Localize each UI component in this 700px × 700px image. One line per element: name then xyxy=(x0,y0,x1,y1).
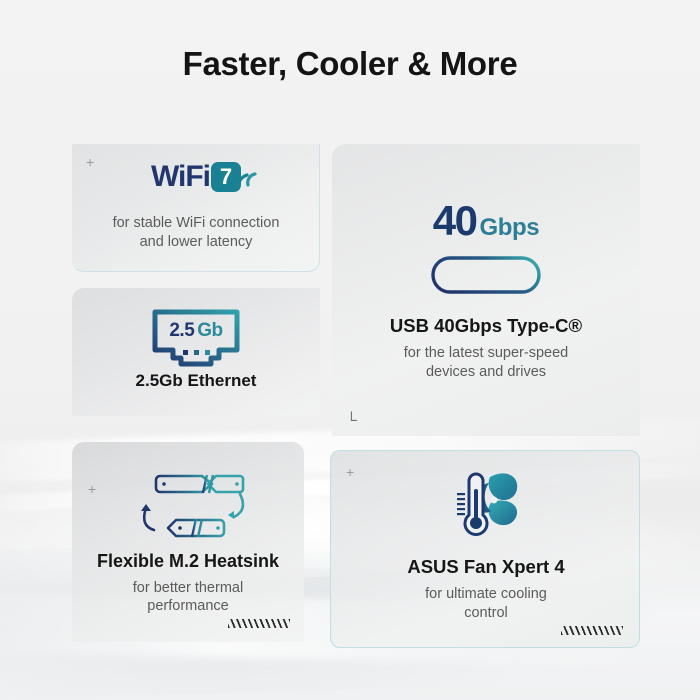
usb-speed-value: 40 xyxy=(433,200,477,242)
feature-card-fanxpert[interactable]: + xyxy=(330,450,640,648)
m2-heatsink-swap-icon xyxy=(72,470,304,551)
wifi-signal-arcs-icon xyxy=(236,172,262,196)
usb-c-port-icon xyxy=(332,254,640,301)
ethernet-port-icon: 2.5Gb xyxy=(72,306,320,373)
corner-bracket-marker-icon: └ xyxy=(346,413,357,428)
page-title: Faster, Cooler & More xyxy=(0,45,700,83)
card-subtitle-line-2: control xyxy=(331,604,640,623)
hatch-decoration xyxy=(561,626,623,635)
usb-speed-unit: Gbps xyxy=(479,216,539,240)
card-title-usb: USB 40Gbps Type-C® xyxy=(332,314,640,337)
card-subtitle-line-1: for better thermal xyxy=(72,579,304,598)
card-subtitle-line-1: for stable WiFi connection xyxy=(72,214,320,233)
card-subtitle-line-2: and lower latency xyxy=(72,233,320,252)
feature-card-wifi7[interactable]: + WiFi 7 for stable WiFi connection and … xyxy=(72,144,320,272)
card-title-heatsink: Flexible M.2 Heatsink xyxy=(72,550,304,573)
wifi-logo-word: WiFi xyxy=(151,162,210,192)
card-title-ethernet: 2.5Gb Ethernet xyxy=(72,370,320,391)
card-subtitle-line-1: for ultimate cooling xyxy=(331,585,640,604)
wifi-7-badge-number: 7 xyxy=(220,166,232,188)
feature-card-ethernet[interactable]: 2.5Gb 2.5Gb Ethernet xyxy=(72,288,320,416)
ethernet-speed-value: 2.5 xyxy=(169,320,194,341)
usb-speed-label: 40 Gbps xyxy=(332,200,640,242)
wifi-7-logo: WiFi 7 xyxy=(72,162,320,192)
feature-card-heatsink[interactable]: + xyxy=(72,442,304,642)
card-subtitle-line-1: for the latest super-speed xyxy=(332,344,640,363)
hatch-decoration xyxy=(228,619,290,628)
feature-highlight-page: Faster, Cooler & More + WiFi 7 for stabl… xyxy=(0,0,700,700)
card-subtitle-line-2: devices and drives xyxy=(332,363,640,382)
card-title-fanxpert: ASUS Fan Xpert 4 xyxy=(331,555,640,578)
card-subtitle-line-2: performance xyxy=(72,597,304,616)
thermometer-fan-icon xyxy=(331,467,640,552)
feature-card-usb[interactable]: 40 Gbps xyxy=(332,144,640,436)
ethernet-speed-unit: Gb xyxy=(197,320,222,341)
